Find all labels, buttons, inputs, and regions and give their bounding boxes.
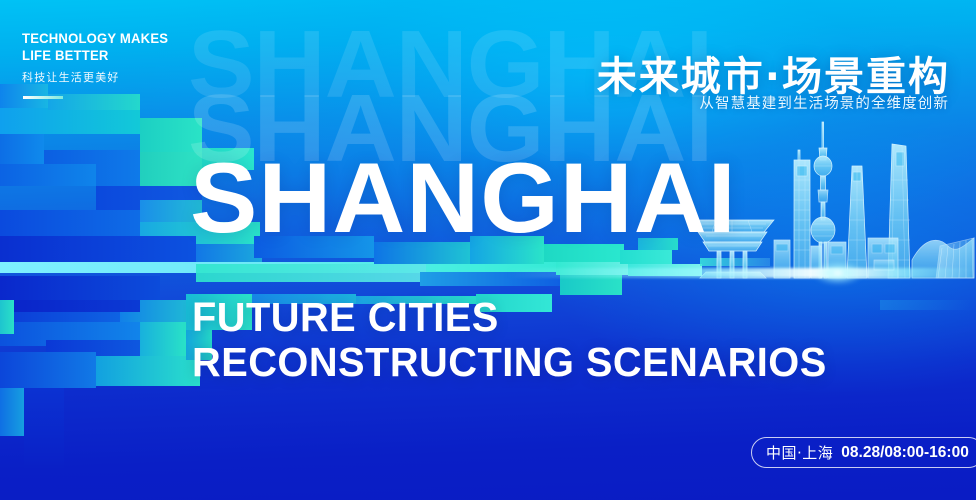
- event-info-badge: 中国·上海 08.28/08:00-16:00: [751, 437, 976, 468]
- chinese-subheadline: 从智慧基建到生活场景的全维度创新: [699, 92, 949, 113]
- glitch-bar: [96, 186, 202, 210]
- badge-location: 中国·上海: [766, 442, 833, 463]
- glitch-bar: [140, 322, 188, 364]
- glitch-bar: [96, 356, 200, 386]
- glitch-bar: [0, 108, 140, 134]
- glitch-bar: [0, 352, 96, 388]
- glitch-bar: [0, 134, 44, 164]
- glitch-bar: [420, 272, 560, 286]
- subtitle-line-2: RECONSTRUCTING SCENARIOS: [192, 341, 827, 385]
- tagline-chinese: 科技让生活更美好: [22, 69, 173, 85]
- glitch-bar: [0, 300, 140, 312]
- glitch-bar: [24, 388, 64, 468]
- glitch-bar: [0, 164, 96, 186]
- glitch-bar: [0, 236, 196, 264]
- poster-canvas: SHANGHAI SHANGHAI: [0, 0, 976, 500]
- glitch-bar: [0, 210, 140, 236]
- glitch-highlight-band: [0, 262, 640, 273]
- tagline-divider: [23, 96, 63, 99]
- glitch-bar: [560, 275, 622, 295]
- glitch-bar: [0, 304, 120, 330]
- glitch-bar: [44, 150, 140, 186]
- badge-datetime: 08.28/08:00-16:00: [841, 444, 969, 462]
- english-subtitle-block: FUTURE CITIES RECONSTRUCTING SCENARIOS: [192, 296, 827, 385]
- glitch-bar: [0, 276, 160, 304]
- glitch-bar: [120, 300, 202, 322]
- tagline-line-1: TECHNOLOGY MAKES: [22, 30, 168, 47]
- subtitle-line-1: FUTURE CITIES: [192, 296, 827, 340]
- page-title: SHANGHAI: [190, 152, 737, 243]
- tagline-block: TECHNOLOGY MAKES LIFE BETTER 科技让生活更美好: [22, 30, 173, 85]
- glitch-bar: [0, 388, 24, 436]
- glitch-bar: [46, 340, 188, 362]
- glitch-bar: [0, 300, 14, 334]
- glitch-bar: [0, 322, 140, 346]
- glitch-bar: [196, 264, 426, 282]
- glitch-bar: [556, 262, 634, 275]
- tagline-line-2: LIFE BETTER: [22, 47, 168, 64]
